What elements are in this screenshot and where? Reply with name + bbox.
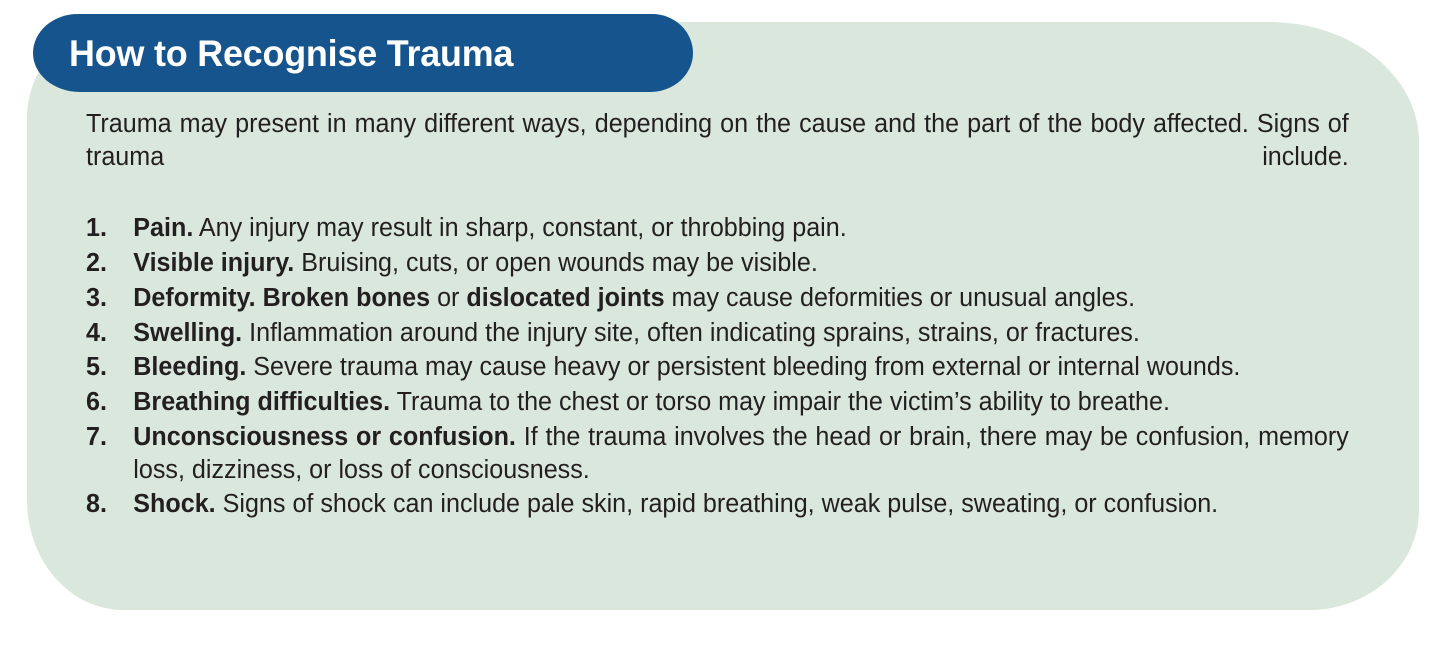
list-item: 3.Deformity. Broken bones or dislocated … bbox=[86, 282, 1349, 315]
list-item-detail: Severe trauma may cause heavy or persist… bbox=[246, 353, 1240, 381]
content-body: Trauma may present in many different way… bbox=[86, 108, 1368, 523]
list-item-number: 8. bbox=[86, 488, 119, 521]
list-item-number: 6. bbox=[86, 386, 119, 419]
list-item-text: Deformity. Broken bones or dislocated jo… bbox=[133, 284, 1135, 312]
list-item-term: dislocated joints bbox=[466, 284, 664, 312]
list-item-text: Shock. Signs of shock can include pale s… bbox=[133, 490, 1218, 518]
list-item-text: Unconsciousness or confusion. If the tra… bbox=[133, 423, 1349, 484]
title-banner: How to Recognise Trauma bbox=[33, 14, 693, 92]
list-item-term: Pain. bbox=[133, 214, 193, 242]
list-item-number: 5. bbox=[86, 351, 119, 384]
list-item-term: Bleeding. bbox=[133, 353, 246, 381]
page-title: How to Recognise Trauma bbox=[69, 35, 513, 72]
list-item: 7.Unconsciousness or confusion. If the t… bbox=[86, 421, 1349, 487]
list-item: 1.Pain. Any injury may result in sharp, … bbox=[86, 212, 1349, 245]
list-item-term: Visible injury. bbox=[133, 249, 294, 277]
list-item: 2.Visible injury. Bruising, cuts, or ope… bbox=[86, 247, 1349, 280]
list-item-number: 1. bbox=[86, 212, 119, 245]
list-item-text: Pain. Any injury may result in sharp, co… bbox=[133, 214, 846, 242]
signs-list: 1.Pain. Any injury may result in sharp, … bbox=[86, 212, 1368, 521]
list-item-text: Swelling. Inflammation around the injury… bbox=[133, 319, 1140, 347]
list-item-text: Visible injury. Bruising, cuts, or open … bbox=[133, 249, 818, 277]
list-item: 5.Bleeding. Severe trauma may cause heav… bbox=[86, 351, 1349, 384]
list-item-term: Swelling. bbox=[133, 319, 242, 347]
list-item-term: Deformity. Broken bones bbox=[133, 284, 430, 312]
list-item-detail: Signs of shock can include pale skin, ra… bbox=[216, 490, 1218, 518]
list-item-term: Unconsciousness or confusion. bbox=[133, 423, 516, 451]
list-item-text: Breathing difficulties. Trauma to the ch… bbox=[133, 388, 1170, 416]
list-item-text: Bleeding. Severe trauma may cause heavy … bbox=[133, 353, 1240, 381]
list-item: 8.Shock. Signs of shock can include pale… bbox=[86, 488, 1349, 521]
intro-paragraph: Trauma may present in many different way… bbox=[86, 108, 1349, 206]
list-item-number: 7. bbox=[86, 421, 119, 454]
list-item-detail: Inflammation around the injury site, oft… bbox=[242, 319, 1140, 347]
list-item-term: Shock. bbox=[133, 490, 215, 518]
list-item-detail: or bbox=[430, 284, 466, 312]
list-item-detail: Any injury may result in sharp, constant… bbox=[193, 214, 846, 242]
list-item-number: 3. bbox=[86, 282, 119, 315]
list-item: 6.Breathing difficulties. Trauma to the … bbox=[86, 386, 1349, 419]
list-item: 4.Swelling. Inflammation around the inju… bbox=[86, 317, 1349, 350]
list-item-detail: Trauma to the chest or torso may impair … bbox=[390, 388, 1170, 416]
list-item-detail: Bruising, cuts, or open wounds may be vi… bbox=[294, 249, 818, 277]
list-item-number: 4. bbox=[86, 317, 119, 350]
list-item-number: 2. bbox=[86, 247, 119, 280]
list-item-detail: may cause deformities or unusual angles. bbox=[665, 284, 1136, 312]
list-item-term: Breathing difficulties. bbox=[133, 388, 390, 416]
